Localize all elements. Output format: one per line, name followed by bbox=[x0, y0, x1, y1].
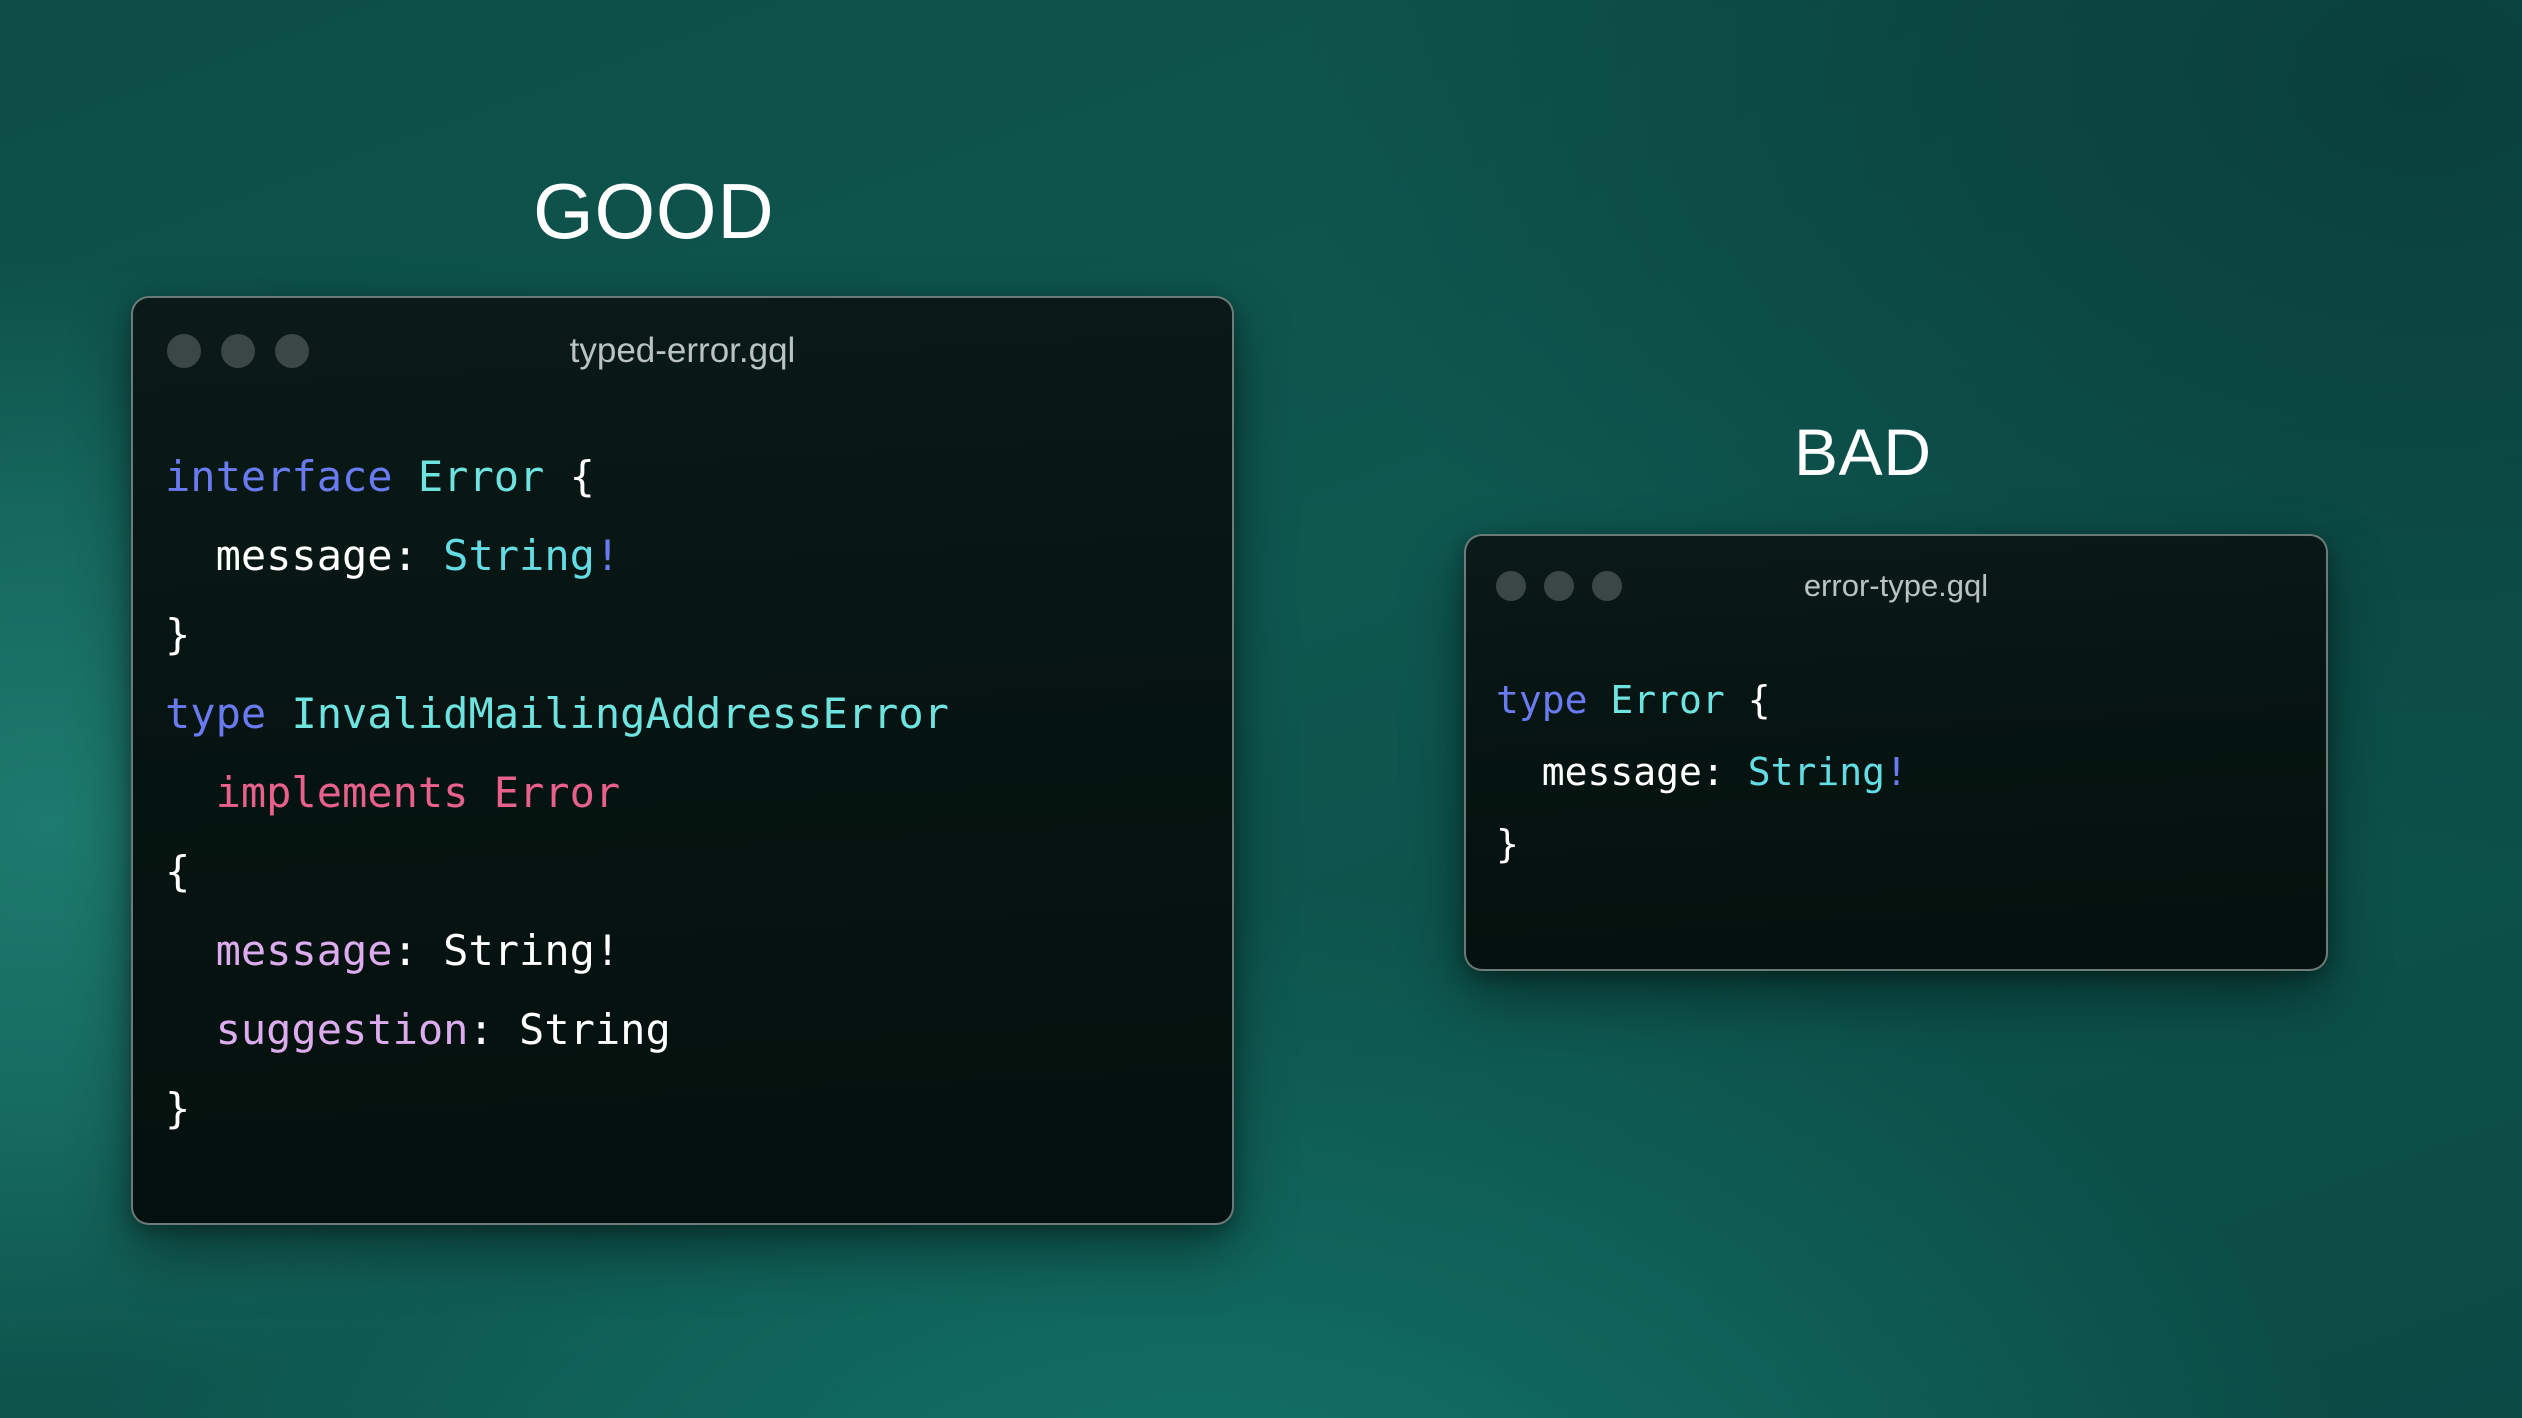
code-token-keyword: interface bbox=[165, 452, 393, 501]
code-token-field: message bbox=[216, 531, 393, 580]
code-token-field: message bbox=[1542, 750, 1702, 794]
code-token-plain bbox=[165, 926, 216, 975]
code-line: } bbox=[165, 1069, 1232, 1148]
code-token-bang: ! bbox=[595, 531, 620, 580]
code-token-plain bbox=[165, 1005, 216, 1054]
traffic-lights bbox=[1496, 571, 1622, 601]
code-token-scalar: String bbox=[443, 531, 595, 580]
code-window-good[interactable]: typed-error.gql interface Error { messag… bbox=[131, 296, 1234, 1225]
code-token-plain bbox=[393, 452, 418, 501]
code-token-plain bbox=[544, 452, 569, 501]
code-token-scalar-alt: String bbox=[519, 1005, 671, 1054]
code-token-punctuation: : bbox=[468, 1005, 519, 1054]
code-line: implements Error bbox=[165, 753, 1232, 832]
code-line: { bbox=[165, 832, 1232, 911]
code-token-scalar-alt: String! bbox=[443, 926, 620, 975]
code-block-bad: type Error { message: String!} bbox=[1466, 636, 2326, 880]
heading-bad: BAD bbox=[1794, 419, 1932, 485]
traffic-light-minimize-icon[interactable] bbox=[1544, 571, 1574, 601]
traffic-lights bbox=[167, 334, 309, 368]
code-token-punctuation: { bbox=[1748, 678, 1771, 722]
code-line: type InvalidMailingAddressError bbox=[165, 674, 1232, 753]
code-line: message: String! bbox=[165, 911, 1232, 990]
code-token-punctuation: } bbox=[1496, 822, 1519, 866]
code-line: message: String! bbox=[165, 516, 1232, 595]
code-token-field-alt: suggestion bbox=[216, 1005, 469, 1054]
code-token-punctuation: : bbox=[393, 531, 444, 580]
slide-canvas: GOOD BAD typed-error.gql interface Error… bbox=[0, 0, 2522, 1418]
code-token-scalar: String bbox=[1748, 750, 1885, 794]
code-line: interface Error { bbox=[165, 437, 1232, 516]
code-token-type: Error bbox=[418, 452, 544, 501]
code-token-punctuation: } bbox=[165, 1084, 190, 1133]
code-window-bad[interactable]: error-type.gql type Error { message: Str… bbox=[1464, 534, 2328, 971]
code-token-punctuation: } bbox=[165, 610, 190, 659]
code-token-implements: implements Error bbox=[216, 768, 621, 817]
code-token-plain bbox=[1725, 678, 1748, 722]
code-token-type: Error bbox=[1610, 678, 1724, 722]
code-token-keyword: type bbox=[1496, 678, 1588, 722]
code-token-plain bbox=[165, 531, 216, 580]
code-token-plain bbox=[165, 768, 216, 817]
traffic-light-close-icon[interactable] bbox=[167, 334, 201, 368]
traffic-light-close-icon[interactable] bbox=[1496, 571, 1526, 601]
code-token-plain bbox=[266, 689, 291, 738]
code-line: type Error { bbox=[1496, 664, 2326, 736]
code-token-bang: ! bbox=[1885, 750, 1908, 794]
code-token-punctuation: : bbox=[1702, 750, 1748, 794]
code-token-punctuation: { bbox=[165, 847, 190, 896]
window-titlebar: typed-error.gql bbox=[133, 298, 1232, 404]
code-token-punctuation: : bbox=[393, 926, 444, 975]
code-token-field-alt: message bbox=[216, 926, 393, 975]
code-line: } bbox=[165, 595, 1232, 674]
traffic-light-zoom-icon[interactable] bbox=[1592, 571, 1622, 601]
code-block-good: interface Error { message: String!}type … bbox=[133, 404, 1232, 1148]
traffic-light-zoom-icon[interactable] bbox=[275, 334, 309, 368]
code-token-type: InvalidMailingAddressError bbox=[291, 689, 948, 738]
code-line: suggestion: String bbox=[165, 990, 1232, 1069]
code-token-plain bbox=[1496, 750, 1542, 794]
code-token-plain bbox=[1588, 678, 1611, 722]
code-token-punctuation: { bbox=[570, 452, 595, 501]
traffic-light-minimize-icon[interactable] bbox=[221, 334, 255, 368]
heading-good: GOOD bbox=[533, 172, 774, 250]
code-line: message: String! bbox=[1496, 736, 2326, 808]
code-token-keyword: type bbox=[165, 689, 266, 738]
code-line: } bbox=[1496, 808, 2326, 880]
window-titlebar: error-type.gql bbox=[1466, 536, 2326, 636]
